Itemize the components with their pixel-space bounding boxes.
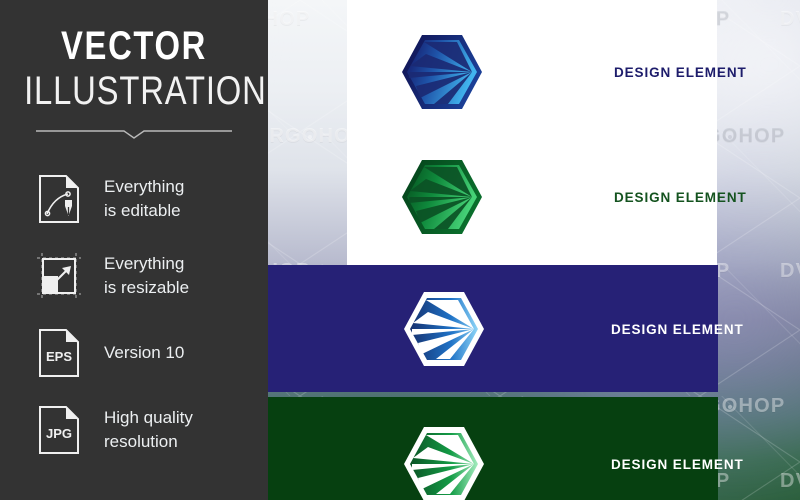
jpg-file-icon: JPG — [36, 404, 82, 456]
hexagon-rays-logo — [402, 424, 486, 500]
feature-label-resolution: High quality resolution — [104, 406, 193, 453]
feature-item-version: EPS Version 10 — [36, 314, 268, 391]
resize-arrow-icon — [36, 250, 82, 302]
feature-label-line2: is editable — [104, 199, 184, 222]
feature-item-resolution: JPG High quality resolution — [36, 391, 268, 468]
feature-label-line1: Everything — [104, 175, 184, 198]
feature-label-line1: Everything — [104, 252, 189, 275]
hexagon-rays-logo — [402, 289, 486, 369]
divider-chevron-notch-icon — [36, 126, 232, 140]
feature-label-line2: is resizable — [104, 276, 189, 299]
eps-file-icon-label: EPS — [46, 349, 72, 364]
sidebar: VECTOR ILLUSTRATION — [0, 0, 268, 500]
logo-wordmark: DESIGN ELEMENT — [611, 322, 744, 337]
showcase-row-white-on-navy: DESIGN ELEMENT — [402, 289, 744, 369]
showcase-row-blue-on-white: DESIGN ELEMENT — [400, 32, 747, 112]
page-title-vector: VECTOR — [24, 26, 244, 66]
poster-canvas: VECTOR ILLUSTRATION — [0, 0, 800, 500]
feature-item-editable: Everything is editable — [36, 160, 268, 237]
showcase-row-green-on-white: DESIGN ELEMENT — [400, 157, 747, 237]
feature-list: Everything is editable — [0, 160, 268, 468]
hexagon-rays-logo — [400, 157, 484, 237]
feature-label-line2: resolution — [104, 430, 193, 453]
title-block: VECTOR ILLUSTRATION — [0, 0, 268, 140]
feature-label-editable: Everything is editable — [104, 175, 184, 222]
feature-label-line1: High quality — [104, 406, 193, 429]
eps-file-icon: EPS — [36, 327, 82, 379]
feature-item-resizable: Everything is resizable — [36, 237, 268, 314]
feature-label-version: Version 10 — [104, 341, 184, 364]
feature-label-line1: Version 10 — [104, 341, 184, 364]
logo-wordmark: DESIGN ELEMENT — [614, 65, 747, 80]
feature-label-resizable: Everything is resizable — [104, 252, 189, 299]
document-pen-tool-icon — [36, 173, 82, 225]
logo-wordmark: DESIGN ELEMENT — [614, 190, 747, 205]
hexagon-rays-logo — [400, 32, 484, 112]
showcase-row-white-on-green: DESIGN ELEMENT — [402, 424, 744, 500]
page-title-illustration: ILLUSTRATION — [24, 66, 244, 116]
jpg-file-icon-label: JPG — [46, 426, 72, 441]
logo-wordmark: DESIGN ELEMENT — [611, 457, 744, 472]
